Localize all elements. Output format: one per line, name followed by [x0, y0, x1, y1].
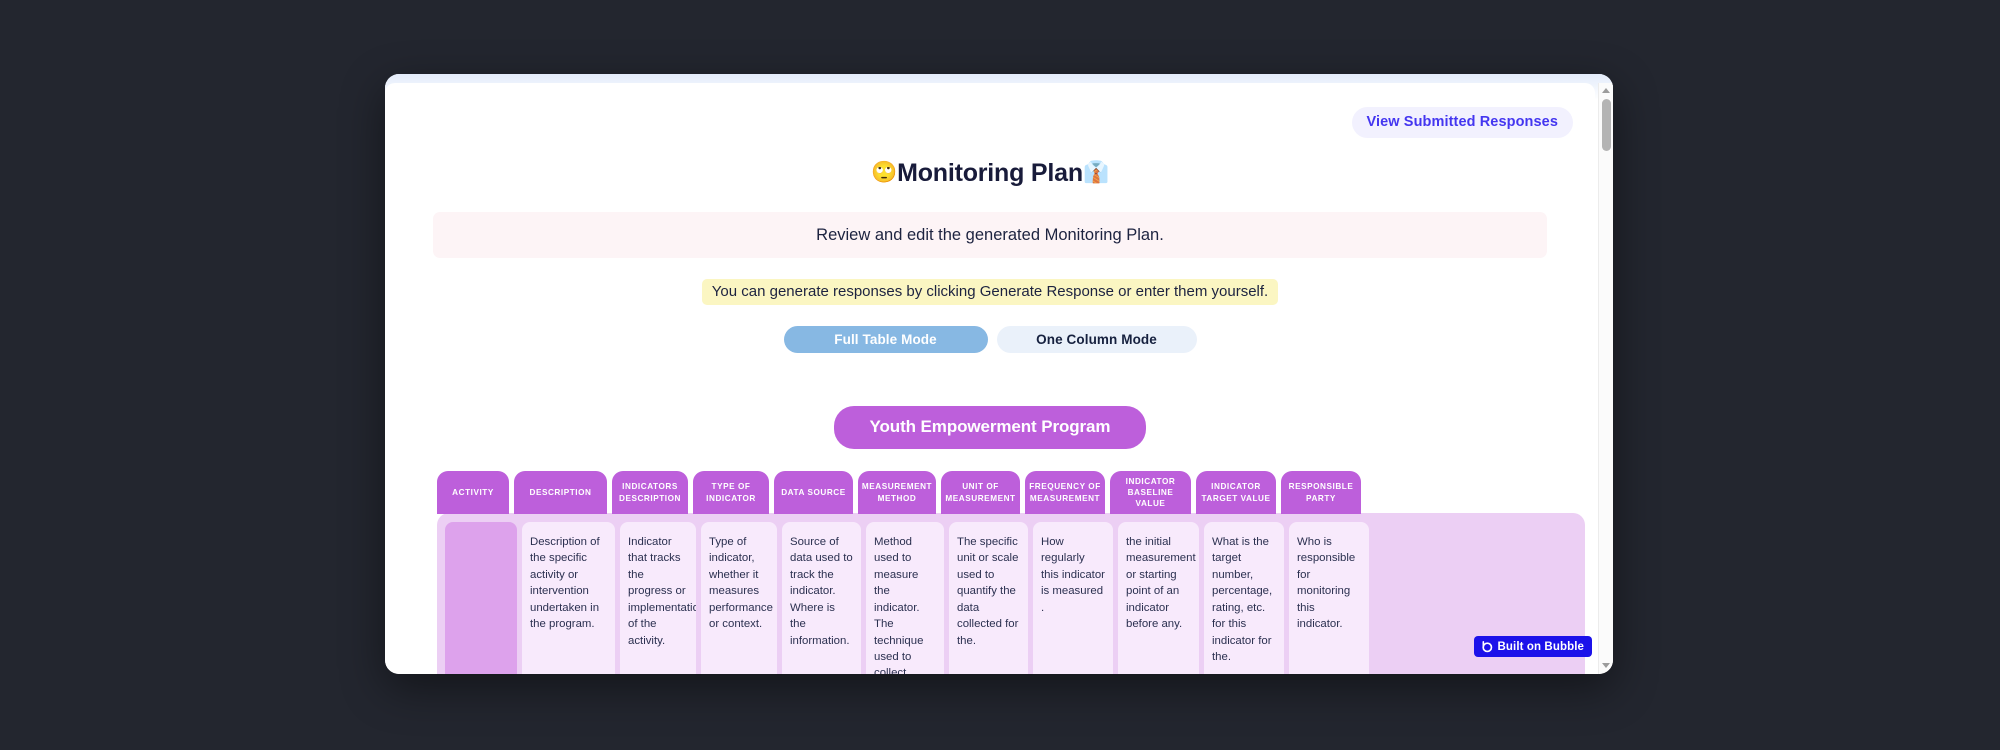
column-header[interactable]: TYPE OF INDICATOR	[693, 471, 769, 514]
column-header-label: FREQUENCY OF MEASUREMENT	[1029, 481, 1101, 503]
column-header-label: RESPONSIBLE PARTY	[1285, 481, 1357, 503]
table-cell-text: How regularly this indicator is measured…	[1041, 536, 1105, 614]
app-window: View Submitted Responses 🙄Monitoring Pla…	[385, 74, 1613, 674]
one-column-mode-button[interactable]: One Column Mode	[997, 326, 1197, 353]
page-scroll-container: View Submitted Responses 🙄Monitoring Pla…	[385, 83, 1595, 674]
table-cell-text: Source of data used to track the indicat…	[790, 536, 853, 647]
column-header-label: DESCRIPTION	[529, 487, 591, 498]
column-header[interactable]: RESPONSIBLE PARTY	[1281, 471, 1361, 514]
table-row: Description of the specific activity or …	[437, 513, 1585, 674]
monitoring-plan-table: ACTIVITYDESCRIPTIONINDICATORS DESCRIPTIO…	[385, 471, 1595, 674]
column-header-label: MEASUREMENT METHOD	[862, 481, 932, 503]
table-cell[interactable]: The specific unit or scale used to quant…	[949, 522, 1028, 674]
scroll-down-arrow-icon[interactable]	[1602, 663, 1610, 668]
column-header[interactable]: FREQUENCY OF MEASUREMENT	[1025, 471, 1105, 514]
scrollbar-thumb[interactable]	[1602, 99, 1611, 151]
page-title: 🙄Monitoring Plan👔	[385, 161, 1595, 186]
table-cell[interactable]: Indicator that tracks the progress or im…	[620, 522, 696, 674]
program-row: Youth Empowerment Program	[385, 406, 1595, 449]
desktop-backdrop: View Submitted Responses 🙄Monitoring Pla…	[0, 0, 2000, 750]
column-header-label: TYPE OF INDICATOR	[697, 481, 765, 503]
bubble-b-icon	[1480, 640, 1493, 653]
table-header-row: ACTIVITYDESCRIPTIONINDICATORS DESCRIPTIO…	[437, 471, 1585, 514]
column-header[interactable]: UNIT OF MEASUREMENT	[941, 471, 1020, 514]
column-header[interactable]: DATA SOURCE	[774, 471, 853, 514]
table-cell-text: What is the target number, percentage, r…	[1212, 536, 1272, 663]
column-header-label: DATA SOURCE	[781, 487, 846, 498]
column-header-label: ACTIVITY	[452, 487, 494, 498]
table-cell-text: Method used to measure the indicator. Th…	[874, 536, 923, 674]
table-cell-text: Indicator that tracks the progress or im…	[628, 536, 696, 647]
column-header[interactable]: INDICATOR TARGET VALUE	[1196, 471, 1276, 514]
table-cell[interactable]: Type of indicator, whether it measures p…	[701, 522, 777, 674]
review-notice-text: Review and edit the generated Monitoring…	[816, 226, 1164, 245]
table-cell[interactable]: Source of data used to track the indicat…	[782, 522, 861, 674]
generate-hint-text: You can generate responses by clicking G…	[702, 279, 1278, 305]
table-cell[interactable]: Description of the specific activity or …	[522, 522, 615, 674]
table-cell[interactable]: Method used to measure the indicator. Th…	[866, 522, 944, 674]
scroll-up-arrow-icon[interactable]	[1602, 88, 1610, 93]
necktie-emoji-icon: 👔	[1083, 161, 1109, 184]
column-header-label: INDICATOR BASELINE VALUE	[1114, 476, 1187, 509]
table-cell[interactable]: Who is responsible for monitoring this i…	[1289, 522, 1369, 674]
review-notice-banner: Review and edit the generated Monitoring…	[433, 212, 1547, 258]
mode-toggle-group: Full Table Mode One Column Mode	[385, 326, 1595, 353]
table-cell[interactable]: the initial measurement or starting poin…	[1118, 522, 1199, 674]
built-on-bubble-badge[interactable]: Built on Bubble	[1474, 636, 1592, 657]
view-submitted-responses-button[interactable]: View Submitted Responses	[1352, 107, 1574, 138]
bubble-badge-label: Built on Bubble	[1498, 641, 1584, 653]
table-cell[interactable]	[445, 522, 517, 674]
table-cell-text: Type of indicator, whether it measures p…	[709, 536, 773, 630]
hint-notice-wrap: You can generate responses by clicking G…	[385, 279, 1595, 305]
table-cell[interactable]: What is the target number, percentage, r…	[1204, 522, 1284, 674]
column-header-label: UNIT OF MEASUREMENT	[945, 481, 1016, 503]
table-cell-text: Who is responsible for monitoring this i…	[1297, 536, 1355, 630]
column-header[interactable]: INDICATORS DESCRIPTION	[612, 471, 688, 514]
page-title-text: Monitoring Plan	[897, 159, 1083, 187]
column-header-label: INDICATOR TARGET VALUE	[1200, 481, 1272, 503]
program-name-pill[interactable]: Youth Empowerment Program	[834, 406, 1147, 449]
column-header[interactable]: DESCRIPTION	[514, 471, 607, 514]
full-table-mode-button[interactable]: Full Table Mode	[784, 326, 988, 353]
table-cell-text: The specific unit or scale used to quant…	[957, 536, 1018, 647]
table-cell[interactable]: How regularly this indicator is measured…	[1033, 522, 1113, 674]
column-header[interactable]: ACTIVITY	[437, 471, 509, 514]
vertical-scrollbar[interactable]	[1598, 83, 1613, 674]
rolling-eyes-emoji-icon: 🙄	[871, 161, 897, 184]
table-cell-text: Description of the specific activity or …	[530, 536, 600, 630]
column-header[interactable]: MEASUREMENT METHOD	[858, 471, 936, 514]
table-cell-text: the initial measurement or starting poin…	[1126, 536, 1196, 630]
topbar: View Submitted Responses	[385, 83, 1595, 138]
column-header-label: INDICATORS DESCRIPTION	[616, 481, 684, 503]
column-header[interactable]: INDICATOR BASELINE VALUE	[1110, 471, 1191, 514]
